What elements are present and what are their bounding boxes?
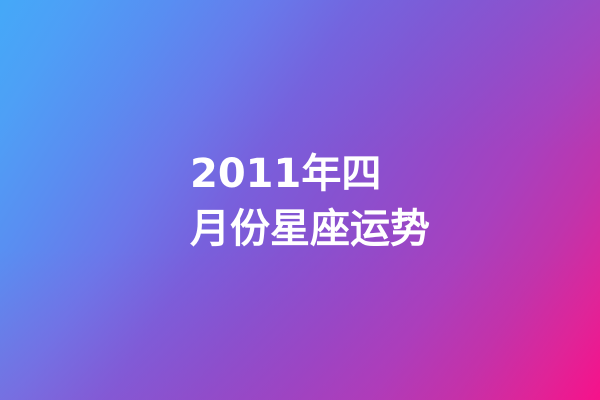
banner-title-block: 2011年四 月份星座运势 [190,147,430,257]
banner-title-line-2: 月份星座运势 [190,202,430,257]
title-banner: 2011年四 月份星座运势 [0,0,600,400]
banner-title-line-1: 2011年四 [190,147,381,202]
